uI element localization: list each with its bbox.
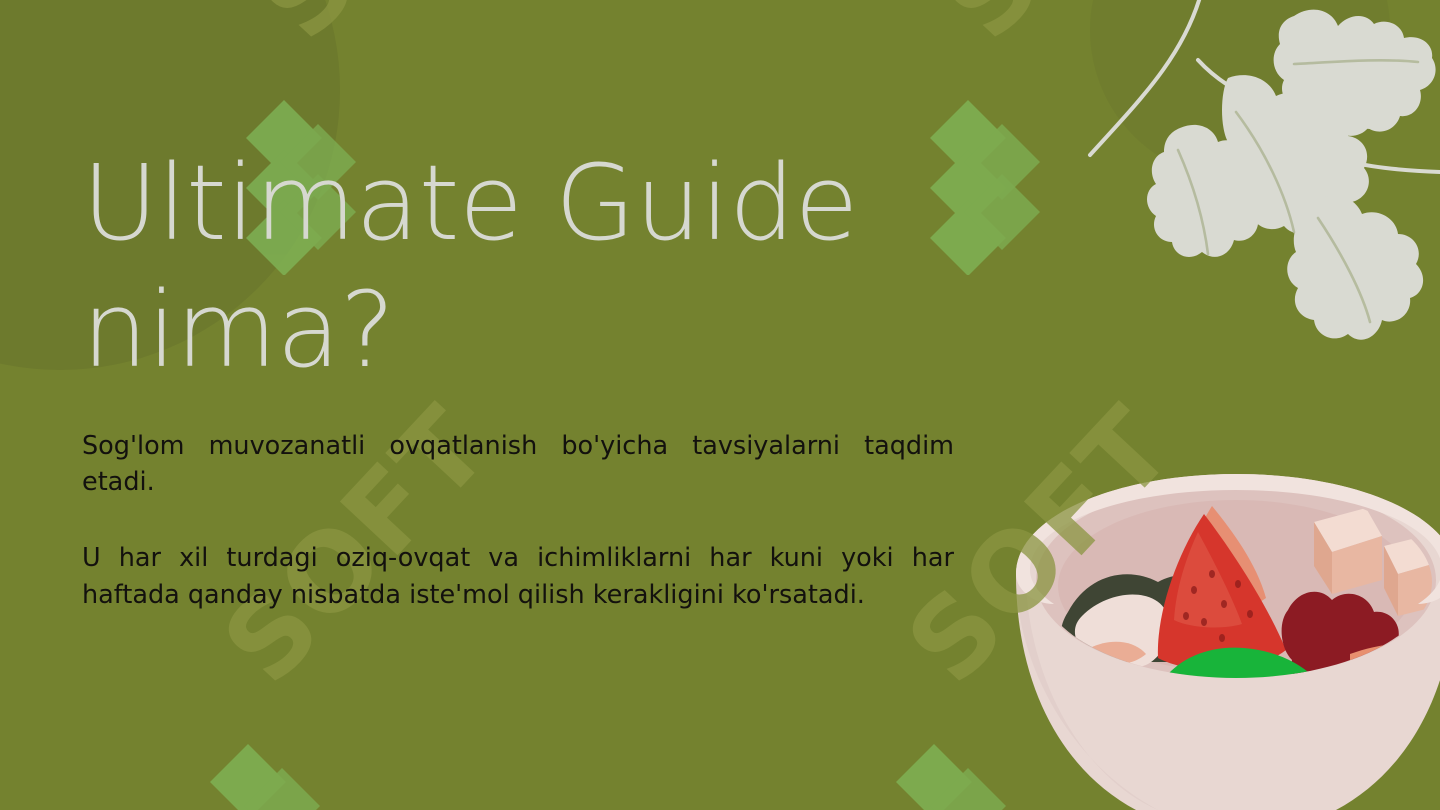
presentation-slide: SOFT SOFT SOFT SOFT SOFT Ultimate Guide … bbox=[0, 0, 1440, 810]
slide-content: Ultimate Guide nima? Sog'lom muvozanatli… bbox=[82, 0, 954, 810]
oak-leaf-branch-illustration bbox=[1080, 0, 1440, 400]
body-text-block: Sog'lom muvozanatli ovqatlanish bo'yicha… bbox=[82, 428, 954, 613]
paragraph-2: U har xil turdagi oziq-ovqat va ichimlik… bbox=[82, 540, 954, 612]
paragraph-1: Sog'lom muvozanatli ovqatlanish bo'yicha… bbox=[82, 428, 954, 500]
page-title: Ultimate Guide nima? bbox=[82, 140, 982, 394]
watermark-text: SOFT bbox=[920, 0, 1233, 63]
background-blob-top-right bbox=[1090, 0, 1390, 180]
salad-bowl-illustration bbox=[998, 462, 1440, 810]
